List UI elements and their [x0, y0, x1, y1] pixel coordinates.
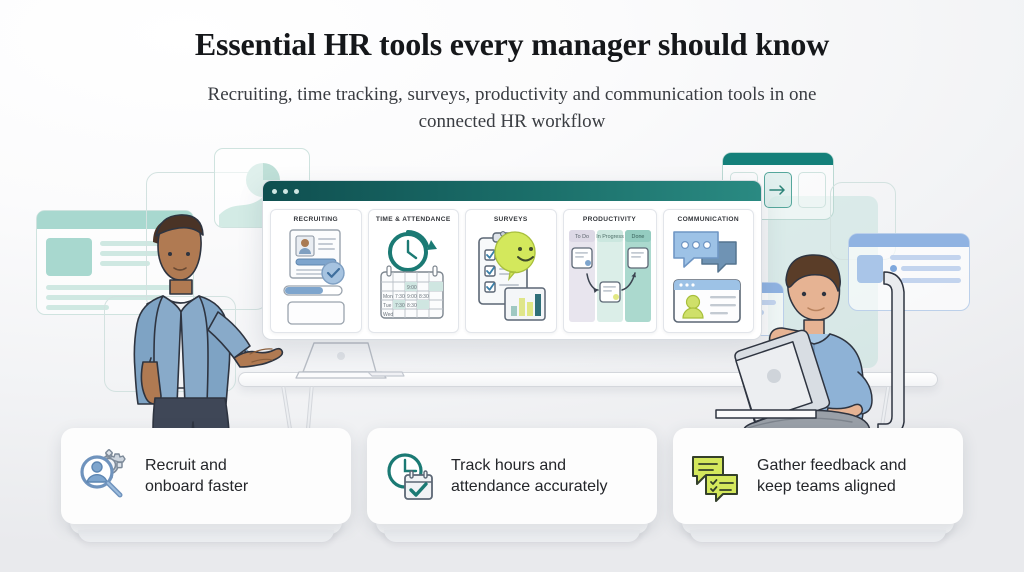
feature-card-track[interactable]: Track hours and attendance accurately: [367, 428, 657, 524]
feature-card-recruit-line1: Recruit and: [145, 457, 227, 474]
svg-text:9:00: 9:00: [407, 285, 417, 291]
feature-card-feedback-text: Gather feedback and keep teams aligned: [757, 455, 906, 498]
panel-productivity-label: PRODUCTIVITY: [583, 216, 636, 224]
browser-titlebar: [263, 181, 761, 201]
svg-text:9:00: 9:00: [407, 294, 417, 300]
panel-productivity[interactable]: PRODUCTIVITY To Do In Progress Done: [563, 209, 657, 333]
laptop: [296, 340, 406, 385]
page-title: Essential HR tools every manager should …: [0, 26, 1024, 63]
arrow-right-icon: [769, 184, 787, 196]
bg-teal-tile: [798, 172, 826, 208]
card-shadow-layer-2: [384, 530, 640, 542]
svg-text:8:30: 8:30: [407, 303, 417, 309]
kanban-col-inprogress-label: In Progress: [596, 234, 624, 240]
kanban-col-todo-label: To Do: [574, 234, 588, 240]
bg-teal-window-titlebar: [723, 153, 833, 165]
card-shadow-layer-2: [78, 530, 334, 542]
laptop-icon: [296, 340, 406, 385]
feature-card-recruit[interactable]: Recruit and onboard faster: [61, 428, 351, 524]
feature-card-track-text: Track hours and attendance accurately: [451, 455, 608, 498]
svg-text:8:30: 8:30: [419, 294, 429, 300]
panel-surveys-art: [469, 228, 553, 332]
presenter-illustration: [118, 212, 298, 464]
panel-time-attendance-art: 9:00Mon7:30 9:008:30 Tue7:308:30 Wed: [372, 228, 456, 332]
window-dot-minimize-icon[interactable]: [283, 189, 288, 194]
panel-time-attendance-label: TIME & ATTENDANCE: [376, 216, 451, 224]
panel-recruiting-label: RECRUITING: [293, 216, 338, 224]
feature-card-wrap-track: Track hours and attendance accurately: [367, 428, 657, 524]
analyst-illustration: [716, 250, 916, 440]
chat-feedback-icon: [689, 449, 743, 503]
window-dot-maximize-icon[interactable]: [294, 189, 299, 194]
svg-text:Mon: Mon: [383, 294, 393, 300]
feature-card-wrap-feedback: Gather feedback and keep teams aligned: [673, 428, 963, 524]
window-dot-close-icon[interactable]: [272, 189, 277, 194]
seated-analyst-figure: [716, 250, 916, 440]
panel-time-attendance[interactable]: TIME & ATTENDANCE: [368, 209, 460, 333]
clock-calendar-check-icon: [383, 449, 437, 503]
feature-card-row: Recruit and onboard faster: [0, 428, 1024, 524]
feature-card-wrap-recruit: Recruit and onboard faster: [61, 428, 351, 524]
clock-calendar-icon: 9:00Mon7:30 9:008:30 Tue7:308:30 Wed: [375, 228, 451, 328]
panel-row: RECRUITING: [263, 201, 761, 340]
card-shadow-layer-2: [690, 530, 946, 542]
svg-text:7:30: 7:30: [395, 294, 405, 300]
bg-thumb: [46, 238, 92, 276]
svg-text:Tue: Tue: [383, 303, 392, 309]
svg-text:7:30: 7:30: [395, 303, 405, 309]
hr-tools-browser-window[interactable]: RECRUITING: [262, 180, 762, 340]
bg-blue-window-titlebar: [849, 234, 969, 247]
feature-card-recruit-line2: onboard faster: [145, 478, 248, 495]
panel-communication-label: COMMUNICATION: [677, 216, 739, 224]
feature-card-track-line1: Track hours and: [451, 457, 566, 474]
magnifier-person-gear-icon: [77, 449, 131, 503]
panel-surveys-label: SURVEYS: [494, 216, 528, 224]
infographic-canvas: Essential HR tools every manager should …: [0, 0, 1024, 572]
feature-card-feedback[interactable]: Gather feedback and keep teams aligned: [673, 428, 963, 524]
feature-card-recruit-text: Recruit and onboard faster: [145, 455, 248, 498]
kanban-col-done-label: Done: [631, 234, 644, 240]
panel-productivity-art: To Do In Progress Done: [567, 228, 653, 332]
bg-arrow-tile: [764, 172, 792, 208]
feature-card-track-line2: attendance accurately: [451, 478, 608, 495]
svg-text:Wed: Wed: [383, 312, 393, 318]
feature-card-feedback-line2: keep teams aligned: [757, 478, 896, 495]
page-subtitle: Recruiting, time tracking, surveys, prod…: [172, 82, 852, 136]
standing-presenter-figure: [118, 212, 298, 464]
bg-line: [46, 305, 109, 310]
panel-surveys[interactable]: SURVEYS: [465, 209, 557, 333]
feature-card-feedback-line1: Gather feedback and: [757, 457, 906, 474]
kanban-board-icon: To Do In Progress Done: [567, 228, 653, 328]
clipboard-smiley-chart-icon: [473, 228, 549, 328]
